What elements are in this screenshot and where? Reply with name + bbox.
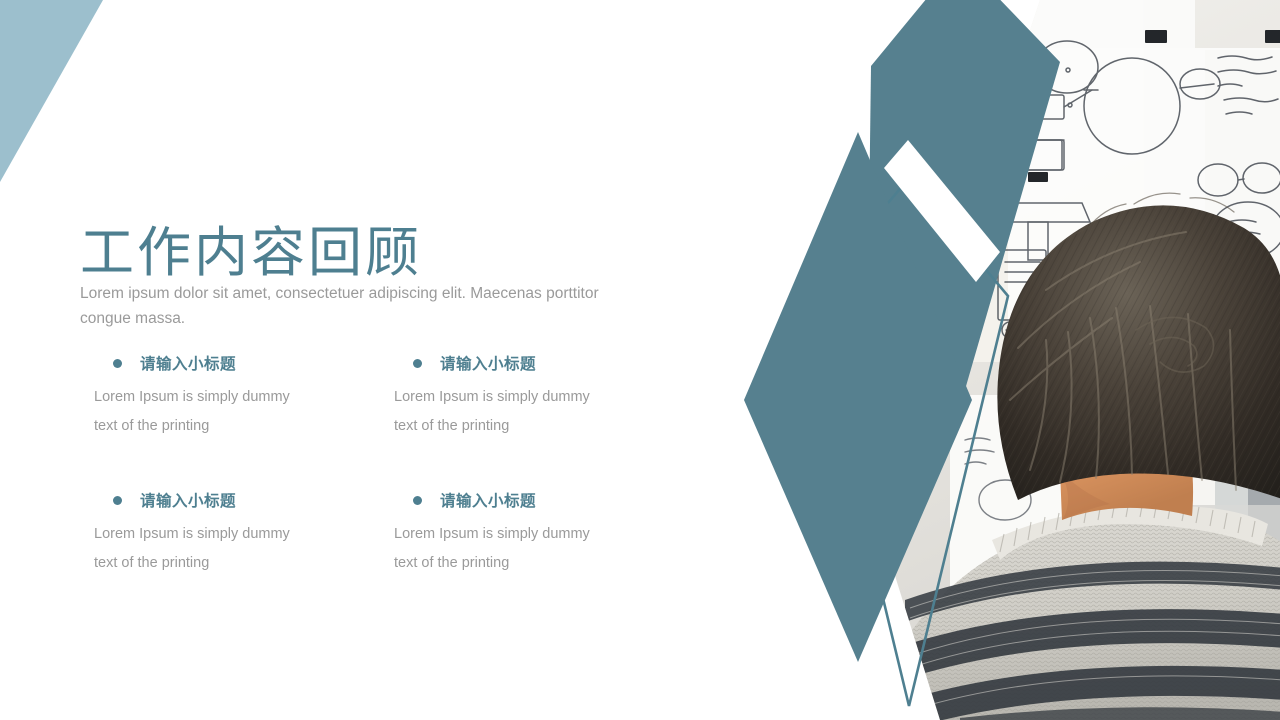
bullet-heading-2: 请输入小标题 <box>380 352 665 374</box>
bullet-body-2: Lorem Ipsum is simply dummy text of the … <box>394 383 665 441</box>
bullet-title-3: 请输入小标题 <box>140 489 236 511</box>
bullet-body-line2: text of the printing <box>94 549 365 578</box>
presentation-slide: 工作内容回顾 Lorem ipsum dolor sit amet, conse… <box>0 0 1280 720</box>
bullet-body-4: Lorem Ipsum is simply dummy text of the … <box>394 520 665 578</box>
bullet-heading-3: 请输入小标题 <box>80 489 365 511</box>
bullet-body-line2: text of the printing <box>394 549 665 578</box>
bullet-body-1: Lorem Ipsum is simply dummy text of the … <box>94 383 365 441</box>
bullet-body-line2: text of the printing <box>94 412 365 441</box>
bullet-heading-4: 请输入小标题 <box>380 489 665 511</box>
slide-text-content: 工作内容回顾 Lorem ipsum dolor sit amet, conse… <box>0 0 760 720</box>
bullet-heading-1: 请输入小标题 <box>80 352 365 374</box>
bullet-item-3[interactable]: 请输入小标题 Lorem Ipsum is simply dummy text … <box>80 489 365 578</box>
bullet-body-line2: text of the printing <box>394 412 665 441</box>
bullet-body-line1: Lorem Ipsum is simply dummy <box>94 389 290 405</box>
bullet-grid: 请输入小标题 Lorem Ipsum is simply dummy text … <box>80 352 680 578</box>
bullet-body-line1: Lorem Ipsum is simply dummy <box>394 389 590 405</box>
bullet-item-4[interactable]: 请输入小标题 Lorem Ipsum is simply dummy text … <box>380 489 665 578</box>
bullet-dot-icon <box>113 359 122 368</box>
bullet-title-4: 请输入小标题 <box>440 489 536 511</box>
bullet-dot-icon <box>413 359 422 368</box>
bullet-title-1: 请输入小标题 <box>140 352 236 374</box>
bullet-body-line1: Lorem Ipsum is simply dummy <box>394 526 590 542</box>
page-subtitle: Lorem ipsum dolor sit amet, consectetuer… <box>80 281 640 331</box>
bullet-item-1[interactable]: 请输入小标题 Lorem Ipsum is simply dummy text … <box>80 352 365 441</box>
bullet-body-3: Lorem Ipsum is simply dummy text of the … <box>94 520 365 578</box>
bullet-dot-icon <box>113 496 122 505</box>
bullet-item-2[interactable]: 请输入小标题 Lorem Ipsum is simply dummy text … <box>380 352 665 441</box>
page-title: 工作内容回顾 <box>80 221 422 285</box>
bullet-body-line1: Lorem Ipsum is simply dummy <box>94 526 290 542</box>
bullet-dot-icon <box>413 496 422 505</box>
bullet-title-2: 请输入小标题 <box>440 352 536 374</box>
